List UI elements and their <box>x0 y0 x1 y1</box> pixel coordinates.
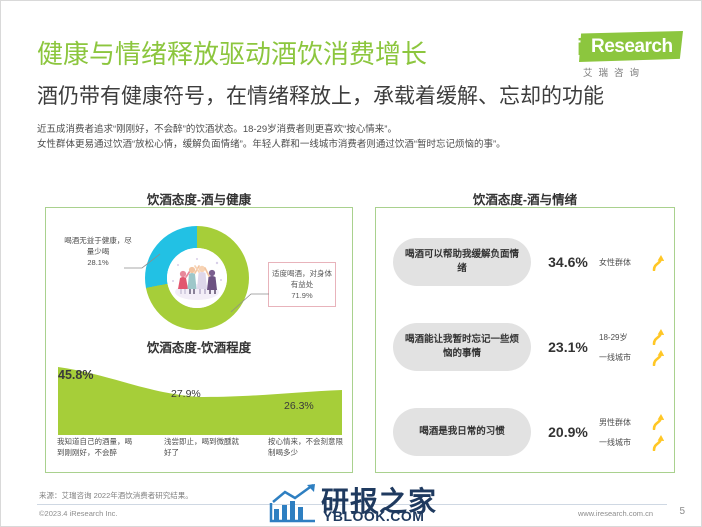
group-label: 男性群体 <box>599 417 647 428</box>
website-url: www.iresearch.com.cn <box>578 509 653 518</box>
right-panel-title: 饮酒态度-酒与情绪 <box>375 189 675 208</box>
donut-center <box>167 248 227 308</box>
left-panel-title: 饮酒态度-酒与健康 <box>45 189 353 208</box>
funnel-value-0: 45.8% <box>58 368 93 382</box>
funnel-chart-title: 饮酒态度-饮酒程度 <box>46 337 352 356</box>
arrow-up-icon <box>651 349 664 366</box>
group-label: 18-29岁 <box>599 332 647 343</box>
people-celebrating-illustration <box>167 248 227 308</box>
donut-label-cyan-value: 28.1% <box>87 258 108 267</box>
funnel-value-1: 27.9% <box>171 388 201 400</box>
statement-percent: 20.9% <box>542 408 594 456</box>
donut-label-green-value: 71.9% <box>291 291 312 300</box>
trend-arrows <box>646 323 668 371</box>
logo-i-glyph: i <box>577 34 583 60</box>
group-labels: 18-29岁 一线城市 <box>599 323 647 371</box>
donut-leader-line-cyan <box>124 250 164 272</box>
page-number: 5 <box>679 506 685 517</box>
iresearch-logo: i Research 艾瑞咨询 <box>557 31 685 83</box>
arrow-up-icon <box>651 434 664 451</box>
copyright-note: ©2023.4 iResearch Inc. <box>39 509 118 518</box>
arrow-up-icon <box>651 328 664 345</box>
trend-arrows <box>646 238 668 286</box>
statement-percent: 34.6% <box>542 238 594 286</box>
donut-label-cyan-text: 喝酒无益于健康，尽量少喝 <box>64 236 132 256</box>
watermark: 研报之家 YBLOOK.COM <box>269 483 513 525</box>
description-block: 近五成消费者追求“刚刚好，不会醉”的饮酒状态。18-29岁消费者则更喜欢“按心情… <box>37 122 506 152</box>
watermark-english: YBLOOK.COM <box>323 508 424 524</box>
logo-chinese-name: 艾瑞咨询 <box>583 65 645 79</box>
emotion-row: 喝酒可以帮助我缓解负面情绪 34.6% 女性群体 <box>376 238 674 286</box>
donut-label-green: 适度喝酒，对身体有益处 71.9% <box>268 262 336 307</box>
trend-arrows <box>646 408 668 456</box>
donut-label-green-text: 适度喝酒，对身体有益处 <box>272 269 332 289</box>
group-labels: 女性群体 <box>599 238 647 286</box>
statement-pill: 喝酒是我日常的习惯 <box>393 408 531 456</box>
arrow-up-icon <box>651 254 664 271</box>
page-title: 健康与情绪释放驱动酒饮消费增长 <box>37 37 427 71</box>
left-chart-panel: 喝酒无益于健康，尽量少喝 28.1% 适度喝酒，对身体有益处 71.9% 饮酒态… <box>45 207 353 473</box>
watermark-chart-icon <box>269 483 319 523</box>
source-note: 来源：艾瑞咨询 2022年酒饮消费者研究结果。 <box>39 490 193 501</box>
funnel-category-1: 浅尝即止，喝到微醺就好了 <box>164 436 242 458</box>
slide-canvas: 健康与情绪释放驱动酒饮消费增长 酒仍带有健康符号，在情绪释放上，承载着缓解、忘却… <box>0 0 702 527</box>
logo-wordmark: Research <box>591 35 673 59</box>
statement-pill: 喝酒能让我暂时忘记一些烦恼的事情 <box>393 323 531 371</box>
right-chart-panel: 喝酒可以帮助我缓解负面情绪 34.6% 女性群体 喝酒能让我暂时忘记一些烦恼的事… <box>375 207 675 473</box>
group-label: 一线城市 <box>599 437 647 448</box>
donut-leader-line-green <box>231 282 271 318</box>
arrow-up-icon <box>651 413 664 430</box>
statement-pill: 喝酒可以帮助我缓解负面情绪 <box>393 238 531 286</box>
page-subtitle: 酒仍带有健康符号，在情绪释放上，承载着缓解、忘却的功能 <box>37 83 604 111</box>
funnel-value-2: 26.3% <box>284 400 314 412</box>
funnel-category-2: 按心情来，不会刻意限制喝多少 <box>268 436 346 458</box>
description-line-1: 近五成消费者追求“刚刚好，不会醉”的饮酒状态。18-29岁消费者则更喜欢“按心情… <box>37 122 506 137</box>
statement-percent: 23.1% <box>542 323 594 371</box>
emotion-row: 喝酒能让我暂时忘记一些烦恼的事情 23.1% 18-29岁 一线城市 <box>376 323 674 371</box>
funnel-category-0: 我知道自己的酒量，喝到刚刚好，不会醉 <box>57 436 135 458</box>
group-label: 女性群体 <box>599 257 647 268</box>
group-labels: 男性群体 一线城市 <box>599 408 647 456</box>
emotion-row: 喝酒是我日常的习惯 20.9% 男性群体 一线城市 <box>376 408 674 456</box>
description-line-2: 女性群体更易通过饮酒“放松心情，缓解负面情绪”。年轻人群和一线城市消费者则通过饮… <box>37 137 506 152</box>
group-label: 一线城市 <box>599 352 647 363</box>
